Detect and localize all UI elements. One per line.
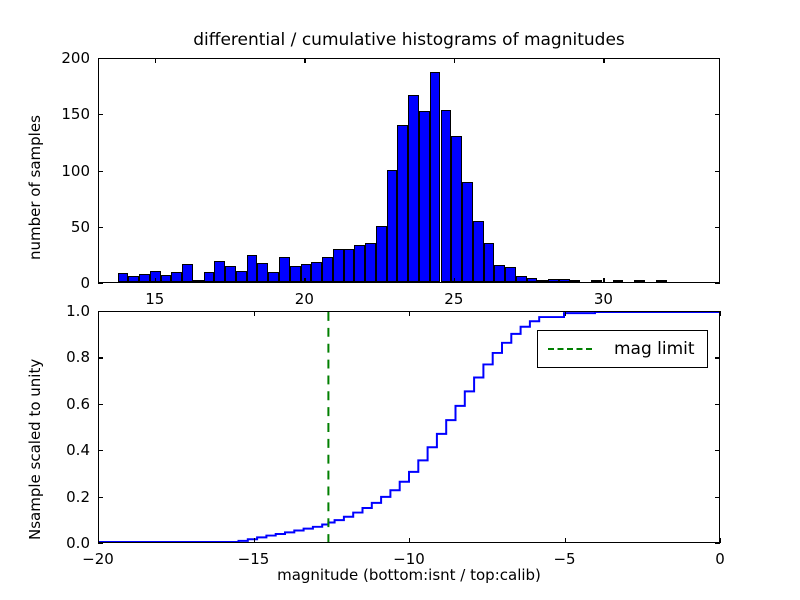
bottom-yticklabel: 0.8 xyxy=(40,348,90,366)
bottom-xtick-upper xyxy=(565,311,566,316)
bottom-xtick-upper xyxy=(254,311,255,316)
bottom-ytick xyxy=(98,311,103,312)
histogram-bar xyxy=(430,72,441,282)
top-ytick xyxy=(98,171,103,172)
bottom-ytick xyxy=(98,450,103,451)
histogram-bar xyxy=(311,262,322,282)
bottom-ytick-right xyxy=(715,497,720,498)
top-ytick-right xyxy=(715,227,720,228)
histogram-bar xyxy=(548,279,559,282)
top-xtick-upper xyxy=(155,58,156,63)
histogram-bar xyxy=(516,276,527,282)
top-panel-ylabel: number of samples xyxy=(26,115,44,260)
histogram-bar xyxy=(344,249,355,282)
histogram-bar xyxy=(161,275,172,282)
top-xtick xyxy=(155,278,156,283)
histogram-bar xyxy=(527,278,538,283)
histogram-bar xyxy=(570,280,581,282)
top-ytick-right xyxy=(715,283,720,284)
top-ytick xyxy=(98,283,103,284)
histogram-bar xyxy=(268,272,279,282)
bottom-ytick-right xyxy=(715,450,720,451)
bottom-ytick xyxy=(98,497,103,498)
top-panel-axes xyxy=(98,58,720,283)
histogram-bar xyxy=(397,125,408,283)
top-xtick-upper xyxy=(304,58,305,63)
bottom-yticklabel: 0.2 xyxy=(40,488,90,506)
bottom-xtick-upper xyxy=(409,311,410,316)
histogram-bar xyxy=(365,243,376,282)
histogram-bar xyxy=(236,271,247,282)
histogram-bar xyxy=(408,95,419,282)
bottom-xtick xyxy=(720,538,721,543)
top-xticklabel: 15 xyxy=(145,290,164,308)
histogram-bar xyxy=(634,280,645,282)
legend: mag limit xyxy=(537,330,708,368)
bottom-xtick xyxy=(409,538,410,543)
top-yticklabel: 0 xyxy=(46,274,90,292)
histogram-bar xyxy=(376,226,387,282)
histogram-bar xyxy=(128,276,139,282)
top-ytick-right xyxy=(715,114,720,115)
top-xticklabel: 25 xyxy=(444,290,463,308)
histogram-bar xyxy=(505,267,516,282)
histogram-bar xyxy=(613,280,624,282)
top-ytick xyxy=(98,227,103,228)
bottom-ytick-right xyxy=(715,311,720,312)
histogram-bar xyxy=(118,273,129,282)
top-yticklabel: 100 xyxy=(46,162,90,180)
histogram-bar xyxy=(279,257,290,282)
top-xtick xyxy=(454,278,455,283)
bottom-ytick xyxy=(98,357,103,358)
histogram-plot-area xyxy=(99,59,719,282)
bottom-panel-axes: mag limit xyxy=(98,311,720,543)
histogram-bar xyxy=(225,266,236,282)
histogram-bar xyxy=(139,274,150,282)
histogram-bar xyxy=(484,243,495,282)
bottom-ytick-right xyxy=(715,357,720,358)
histogram-bar xyxy=(182,264,193,282)
figure-xlabel: magnitude (bottom:isnt / top:calib) xyxy=(98,566,720,584)
histogram-bar xyxy=(462,182,473,282)
legend-label-mag-limit: mag limit xyxy=(614,339,695,359)
top-xticklabel: 30 xyxy=(594,290,613,308)
figure: differential / cumulative histograms of … xyxy=(0,0,800,600)
top-ytick xyxy=(98,114,103,115)
figure-title: differential / cumulative histograms of … xyxy=(98,30,720,50)
top-yticklabel: 150 xyxy=(46,105,90,123)
histogram-bar xyxy=(451,136,462,282)
top-yticklabel: 200 xyxy=(46,49,90,67)
top-yticklabel: 50 xyxy=(46,218,90,236)
top-ytick-right xyxy=(715,171,720,172)
histogram-bar xyxy=(290,266,301,282)
top-xtick xyxy=(603,278,604,283)
histogram-bar xyxy=(214,261,225,282)
top-xticklabel: 20 xyxy=(295,290,314,308)
histogram-bar xyxy=(559,279,570,282)
histogram-bar xyxy=(247,255,258,282)
histogram-bar xyxy=(322,257,333,282)
histogram-bar xyxy=(193,280,204,282)
histogram-bar xyxy=(257,263,268,282)
bottom-ytick xyxy=(98,543,103,544)
histogram-bar xyxy=(204,272,215,282)
histogram-bar xyxy=(354,245,365,282)
histogram-bar xyxy=(387,170,398,283)
bottom-ytick-right xyxy=(715,543,720,544)
top-ytick xyxy=(98,58,103,59)
top-ytick-right xyxy=(715,58,720,59)
histogram-bar xyxy=(419,111,430,282)
histogram-bar xyxy=(301,264,312,282)
top-xtick-upper xyxy=(454,58,455,63)
histogram-bar xyxy=(656,280,667,282)
bottom-xtick xyxy=(254,538,255,543)
bottom-yticklabel: 0.4 xyxy=(40,441,90,459)
histogram-bar xyxy=(333,249,344,282)
bottom-yticklabel: 1.0 xyxy=(40,302,90,320)
histogram-bar xyxy=(473,221,484,282)
bottom-yticklabel: 0.6 xyxy=(40,395,90,413)
histogram-bar xyxy=(591,280,602,282)
mag-limit-legend-line-icon xyxy=(548,348,592,350)
bottom-xtick xyxy=(565,538,566,543)
bottom-yticklabel: 0.0 xyxy=(40,534,90,552)
bottom-ytick-right xyxy=(715,404,720,405)
top-xtick-upper xyxy=(603,58,604,63)
bottom-ytick xyxy=(98,404,103,405)
histogram-bar xyxy=(441,110,452,282)
top-xtick xyxy=(304,278,305,283)
histogram-bar xyxy=(494,265,505,282)
histogram-bar xyxy=(171,272,182,282)
bottom-xtick-upper xyxy=(720,311,721,316)
histogram-bar xyxy=(537,280,548,282)
